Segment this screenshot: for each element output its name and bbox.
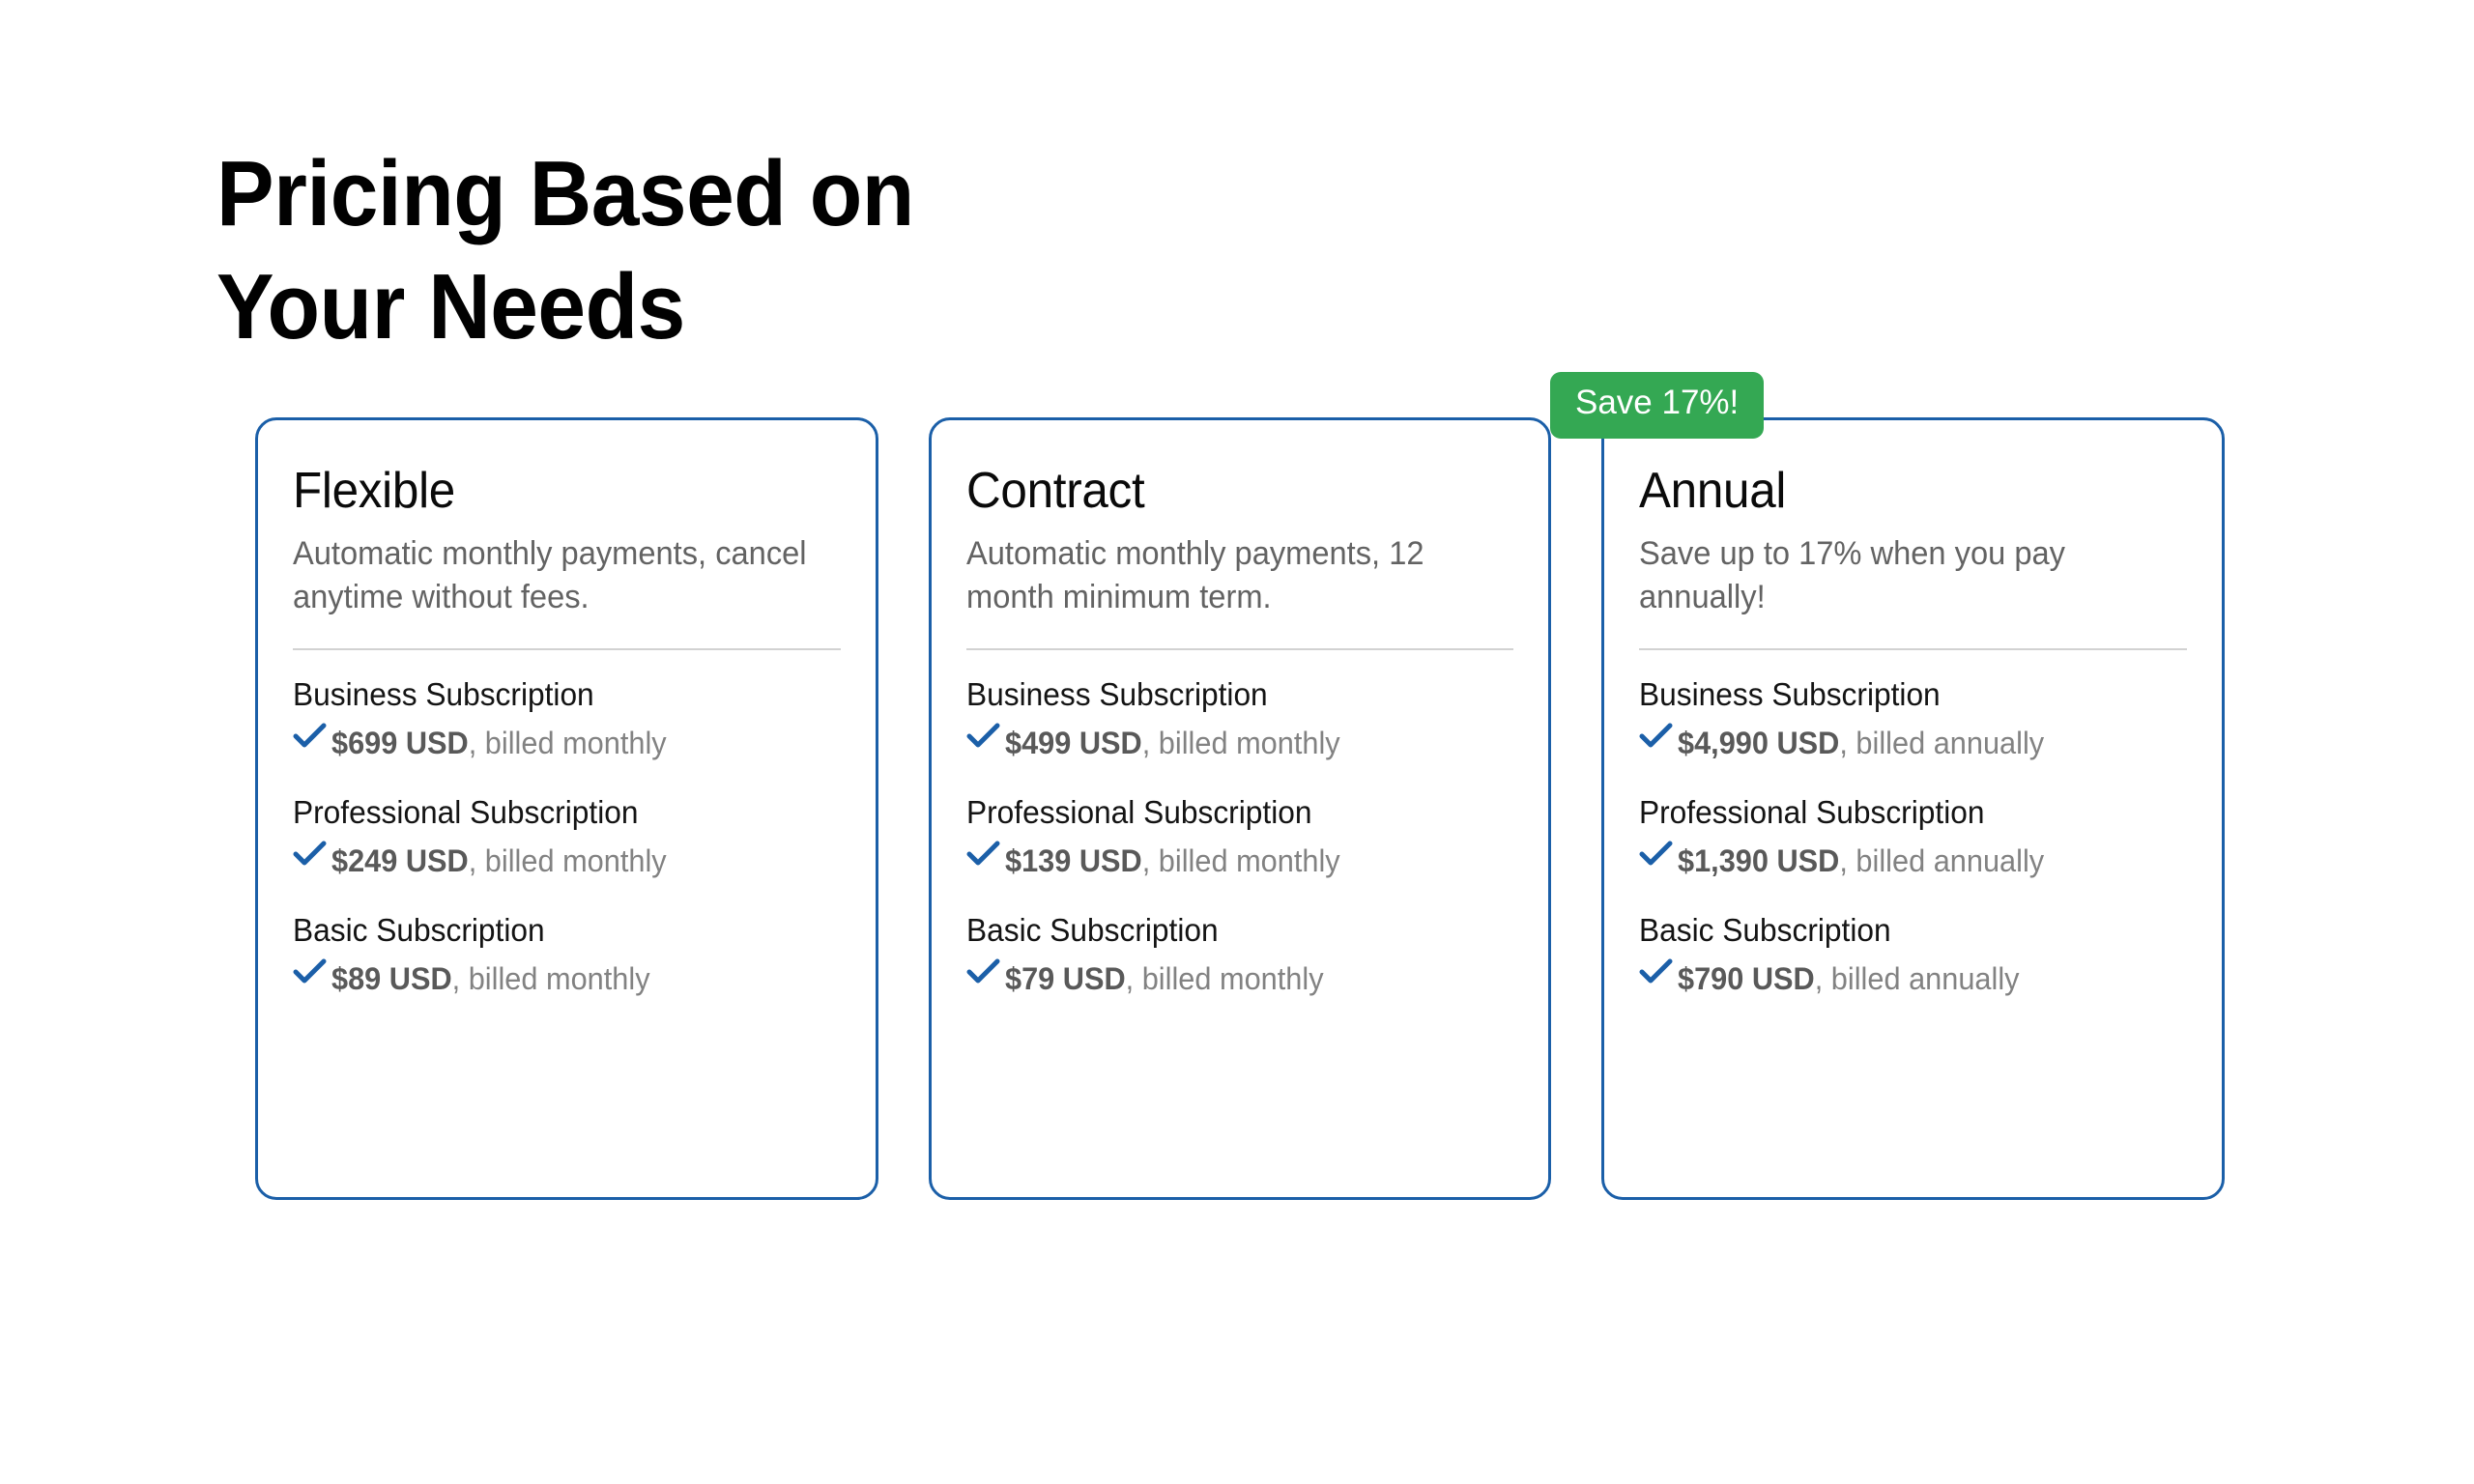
- check-icon: [966, 957, 1005, 986]
- pricing-card-annual[interactable]: Annual Save up to 17% when you pay annua…: [1601, 417, 2225, 1200]
- pricing-page: Pricing Based on Your Needs Flexible Aut…: [0, 0, 2474, 1484]
- plan-description: Automatic monthly payments, cancel anyti…: [293, 532, 819, 619]
- tier-price-amount: $790 USD: [1678, 961, 1815, 996]
- tier-label: Professional Subscription: [1639, 793, 2165, 832]
- tier-item: Business Subscription $499 USD, billed m…: [966, 675, 1514, 761]
- tier-price-amount: $79 USD: [1005, 961, 1126, 996]
- plan-name: Contract: [966, 463, 1486, 519]
- plan-name: Flexible: [293, 463, 813, 519]
- tier-label: Basic Subscription: [293, 911, 819, 950]
- tier-price: $89 USD, billed monthly: [331, 960, 650, 997]
- tier-price-billing: , billed annually: [1840, 843, 2045, 878]
- tier-price-billing: , billed monthly: [469, 726, 667, 760]
- tier-price-row: $1,390 USD, billed annually: [1639, 842, 2187, 879]
- tier-price-row: $139 USD, billed monthly: [966, 842, 1514, 879]
- tier-price-billing: , billed monthly: [452, 961, 650, 996]
- tier-list: Business Subscription $699 USD, billed m…: [293, 675, 841, 997]
- tier-label: Basic Subscription: [966, 911, 1492, 950]
- tier-price-row: $79 USD, billed monthly: [966, 960, 1514, 997]
- tier-item: Basic Subscription $89 USD, billed month…: [293, 911, 841, 997]
- pricing-card-flexible[interactable]: Flexible Automatic monthly payments, can…: [255, 417, 878, 1200]
- tier-price: $139 USD, billed monthly: [1005, 842, 1340, 879]
- plan-name: Annual: [1639, 463, 2159, 519]
- pricing-card-list: Flexible Automatic monthly payments, can…: [255, 417, 2225, 1200]
- tier-label: Business Subscription: [1639, 675, 2165, 714]
- tier-item: Professional Subscription $249 USD, bill…: [293, 793, 841, 879]
- card-divider: [1639, 648, 2187, 650]
- tier-price-billing: , billed monthly: [1141, 726, 1339, 760]
- tier-label: Business Subscription: [293, 675, 819, 714]
- check-icon: [293, 840, 331, 869]
- check-icon: [966, 722, 1005, 751]
- tier-item: Business Subscription $4,990 USD, billed…: [1639, 675, 2187, 761]
- tier-price-amount: $4,990 USD: [1678, 726, 1839, 760]
- tier-price-amount: $499 USD: [1005, 726, 1142, 760]
- tier-price-billing: , billed annually: [1815, 961, 2020, 996]
- tier-price-row: $89 USD, billed monthly: [293, 960, 841, 997]
- tier-price: $699 USD, billed monthly: [331, 725, 667, 761]
- tier-price-billing: , billed annually: [1840, 726, 2045, 760]
- tier-price-billing: , billed monthly: [1125, 961, 1323, 996]
- tier-price-amount: $139 USD: [1005, 843, 1142, 878]
- page-title-line-2: Your Needs: [216, 250, 1475, 363]
- tier-price: $4,990 USD, billed annually: [1678, 725, 2044, 761]
- tier-price: $79 USD, billed monthly: [1005, 960, 1324, 997]
- page-title: Pricing Based on Your Needs: [216, 137, 1475, 363]
- tier-list: Business Subscription $499 USD, billed m…: [966, 675, 1514, 997]
- tier-price-row: $4,990 USD, billed annually: [1639, 725, 2187, 761]
- tier-price: $1,390 USD, billed annually: [1678, 842, 2044, 879]
- page-title-line-1: Pricing Based on: [216, 137, 1475, 250]
- tier-item: Business Subscription $699 USD, billed m…: [293, 675, 841, 761]
- tier-price: $790 USD, billed annually: [1678, 960, 2020, 997]
- tier-list: Business Subscription $4,990 USD, billed…: [1639, 675, 2187, 997]
- tier-label: Basic Subscription: [1639, 911, 2165, 950]
- tier-price-row: $249 USD, billed monthly: [293, 842, 841, 879]
- tier-item: Basic Subscription $79 USD, billed month…: [966, 911, 1514, 997]
- tier-label: Professional Subscription: [966, 793, 1492, 832]
- check-icon: [966, 840, 1005, 869]
- tier-label: Business Subscription: [966, 675, 1492, 714]
- tier-price-amount: $1,390 USD: [1678, 843, 1839, 878]
- tier-price-amount: $699 USD: [331, 726, 469, 760]
- tier-price-row: $699 USD, billed monthly: [293, 725, 841, 761]
- tier-item: Professional Subscription $1,390 USD, bi…: [1639, 793, 2187, 879]
- card-divider: [966, 648, 1514, 650]
- plan-description: Save up to 17% when you pay annually!: [1639, 532, 2165, 619]
- pricing-card-contract[interactable]: Contract Automatic monthly payments, 12 …: [929, 417, 1552, 1200]
- check-icon: [1639, 722, 1678, 751]
- tier-label: Professional Subscription: [293, 793, 819, 832]
- card-divider: [293, 648, 841, 650]
- tier-price-row: $499 USD, billed monthly: [966, 725, 1514, 761]
- tier-price-billing: , billed monthly: [469, 843, 667, 878]
- tier-price-billing: , billed monthly: [1141, 843, 1339, 878]
- check-icon: [293, 722, 331, 751]
- check-icon: [1639, 840, 1678, 869]
- save-badge: Save 17%!: [1550, 372, 1764, 439]
- tier-item: Basic Subscription $790 USD, billed annu…: [1639, 911, 2187, 997]
- check-icon: [293, 957, 331, 986]
- tier-price: $499 USD, billed monthly: [1005, 725, 1340, 761]
- tier-price: $249 USD, billed monthly: [331, 842, 667, 879]
- tier-price-row: $790 USD, billed annually: [1639, 960, 2187, 997]
- check-icon: [1639, 957, 1678, 986]
- tier-price-amount: $89 USD: [331, 961, 452, 996]
- tier-price-amount: $249 USD: [331, 843, 469, 878]
- tier-item: Professional Subscription $139 USD, bill…: [966, 793, 1514, 879]
- plan-description: Automatic monthly payments, 12 month min…: [966, 532, 1492, 619]
